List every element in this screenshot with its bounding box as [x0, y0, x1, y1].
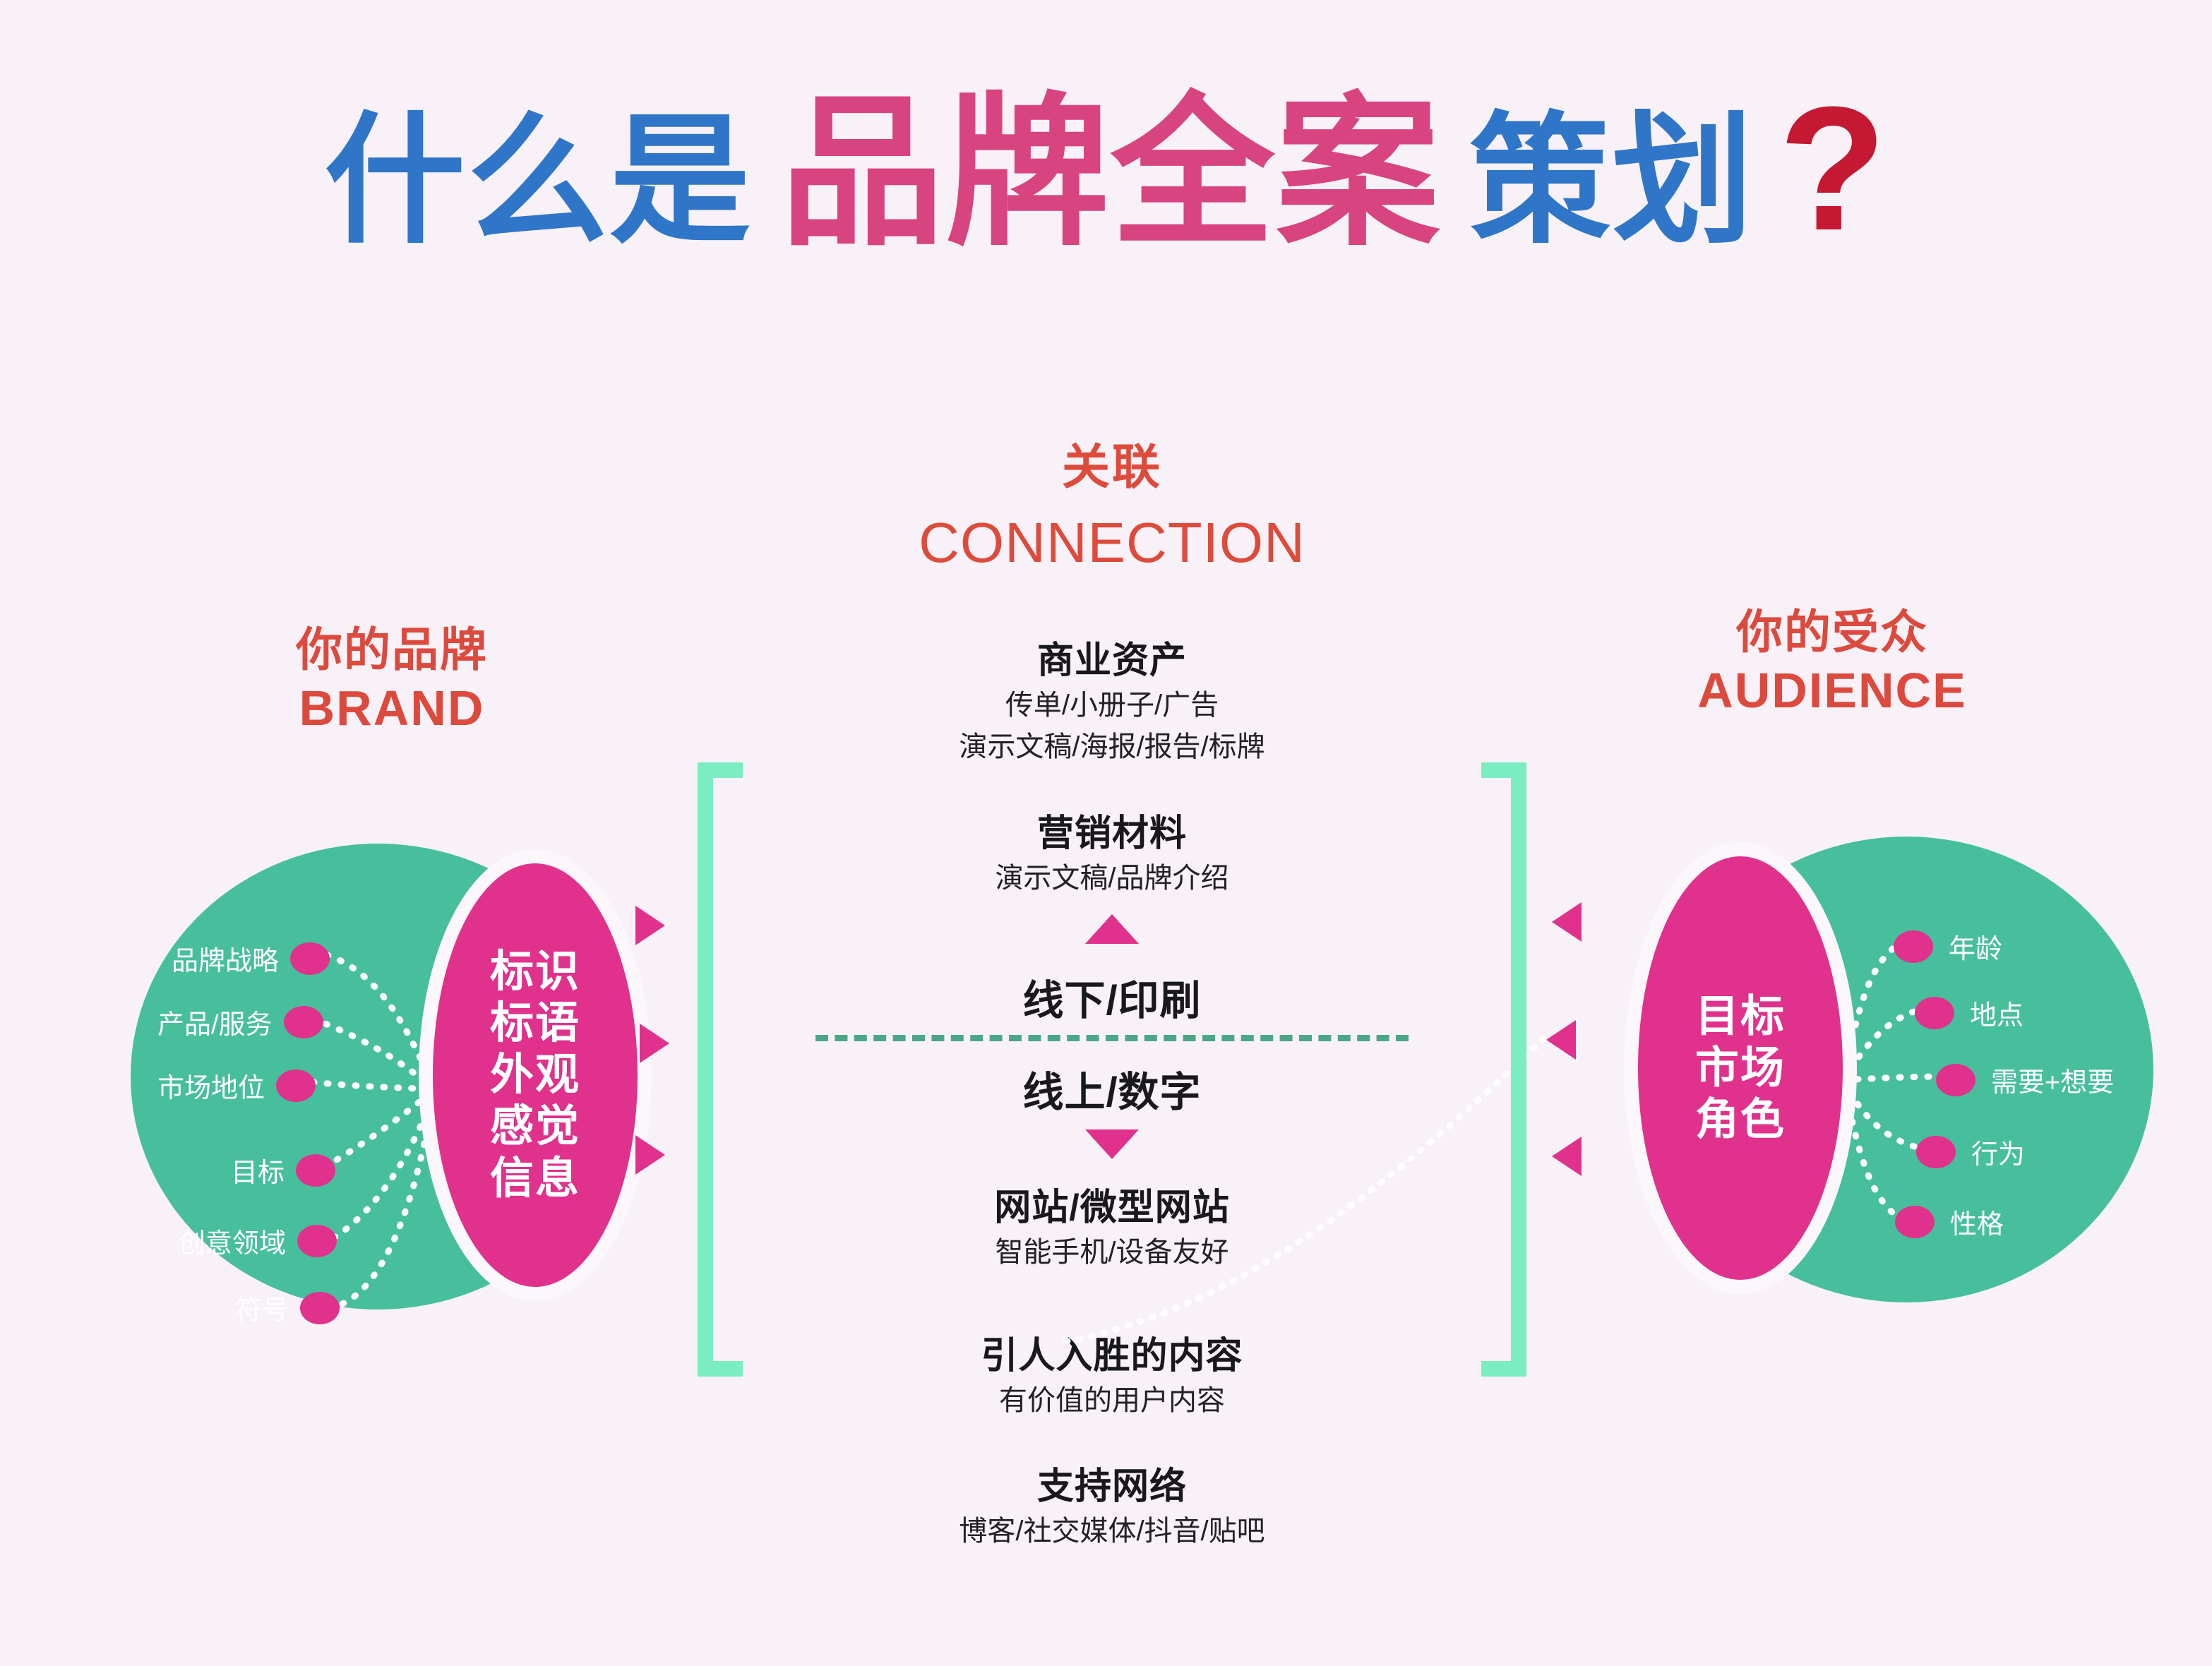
brand-core-ellipse: 标识 标语 外观 感觉 信息	[433, 863, 638, 1287]
arrow-right-icon-3	[635, 1135, 665, 1175]
brand-venn-group: 品牌战略 产品/服务 市场地位 目标 创意领域 符号 标识 标语	[131, 829, 667, 1324]
connection-block-3: 引人入胜的内容 有价值的用户内容	[791, 1334, 1433, 1420]
connection-block-0: 商业资产 传单/小册子/广告 演示文稿/海报/报告/标牌	[791, 639, 1433, 766]
audience-venn-group: 年龄 地点 需要+想要 行为 性格 目标 市场 角色	[1617, 822, 2153, 1317]
connection-block-sub1-4: 博客/社交媒体/抖音/贴吧	[791, 1513, 1433, 1550]
audience-core-ellipse: 目标 市场 角色	[1638, 856, 1843, 1280]
brand-node-dot-1	[284, 1006, 323, 1038]
connection-block-sub1-0: 传单/小册子/广告	[791, 687, 1433, 724]
arrow-left-icon-3	[1552, 1137, 1582, 1176]
brand-node-dot-4	[297, 1225, 337, 1257]
connection-block-title-2: 网站/微型网站	[791, 1186, 1433, 1230]
brand-node-label-3: 目标	[231, 1151, 285, 1189]
audience-node-3[interactable]: 行为	[1916, 1132, 2025, 1171]
audience-node-0[interactable]: 年龄	[1894, 927, 2002, 966]
audience-node-label-0: 年龄	[1949, 927, 2002, 966]
offline-label: 线下/印刷	[1022, 978, 1201, 1024]
brand-node-label-1: 产品/服务	[157, 1002, 273, 1041]
connection-heading: 关联 CONNECTION	[808, 438, 1416, 578]
offline-label-wrap: 线下/印刷	[791, 967, 1433, 1026]
audience-heading-cn: 你的受众	[1553, 604, 2111, 661]
audience-node-label-3: 行为	[1971, 1132, 2025, 1171]
connection-block-sub1-1: 演示文稿/品牌介绍	[791, 860, 1433, 897]
infographic-canvas: 什么是品牌全案策划? 你的品牌 BRAND 品牌战略 产品/服务	[0, 0, 2212, 1666]
audience-core-line-0: 目标	[1638, 990, 1843, 1042]
brand-node-4[interactable]: 创意领域	[179, 1221, 337, 1260]
brand-core-line-2: 外观	[433, 1049, 638, 1101]
connection-block-sub2-0: 演示文稿/海报/报告/标牌	[791, 729, 1433, 766]
brand-node-3[interactable]: 目标	[231, 1151, 335, 1189]
question-mark-icon: ?	[1778, 76, 1888, 262]
brand-core-line-4: 信息	[433, 1153, 638, 1204]
brand-heading: 你的品牌 BRAND	[124, 621, 660, 738]
audience-core-line-2: 角色	[1638, 1094, 1843, 1146]
connection-block-2: 网站/微型网站 智能手机/设备友好	[791, 1186, 1433, 1271]
brand-node-dot-3	[296, 1154, 335, 1187]
connection-heading-en: CONNECTION	[808, 508, 1416, 578]
brand-node-0[interactable]: 品牌战略	[172, 939, 330, 978]
connection-heading-cn: 关联	[808, 438, 1416, 498]
online-label: 线上/数字	[1022, 1069, 1201, 1115]
connection-block-title-0: 商业资产	[791, 639, 1433, 683]
connection-block-title-1: 营销材料	[791, 812, 1433, 856]
audience-node-label-4: 性格	[1950, 1202, 2004, 1241]
page-title: 什么是品牌全案策划?	[0, 76, 2212, 262]
brand-node-label-0: 品牌战略	[172, 939, 279, 978]
title-part-3: 策划	[1469, 107, 1754, 256]
audience-node-4[interactable]: 性格	[1895, 1202, 2004, 1241]
brand-node-label-2: 市场地位	[157, 1066, 265, 1105]
brand-heading-cn: 你的品牌	[124, 621, 660, 678]
title-part-1: 什么是	[324, 107, 752, 256]
brand-node-dot-0	[290, 942, 330, 975]
audience-node-dot-1	[1915, 997, 1954, 1029]
audience-core-line-1: 市场	[1638, 1042, 1843, 1093]
connection-block-sub1-3: 有价值的用户内容	[791, 1382, 1433, 1420]
audience-node-dot-3	[1916, 1136, 1956, 1168]
connection-block-sub1-2: 智能手机/设备友好	[791, 1234, 1433, 1271]
connection-block-title-4: 支持网络	[791, 1465, 1433, 1509]
audience-heading: 你的受众 AUDIENCE	[1553, 604, 2111, 721]
brand-core-label: 标识 标语 外观 感觉 信息	[433, 946, 638, 1204]
arrow-left-icon-2	[1546, 1020, 1576, 1060]
brand-node-dot-5	[300, 1292, 340, 1324]
audience-node-dot-4	[1895, 1206, 1935, 1238]
brand-core-line-3: 感觉	[433, 1101, 638, 1153]
connection-block-1: 营销材料 演示文稿/品牌介绍	[791, 812, 1433, 897]
audience-core-label: 目标 市场 角色	[1638, 990, 1843, 1145]
arrow-left-icon-1	[1552, 902, 1582, 942]
arrow-down-icon	[1085, 1129, 1139, 1159]
brand-node-2[interactable]: 市场地位	[157, 1066, 316, 1105]
connection-block-4: 支持网络 博客/社交媒体/抖音/贴吧	[791, 1465, 1433, 1550]
audience-node-2[interactable]: 需要+想要	[1936, 1060, 2114, 1099]
brand-core-line-1: 标语	[433, 997, 638, 1049]
connection-block-title-3: 引人入胜的内容	[791, 1334, 1433, 1378]
brand-heading-en: BRAND	[124, 678, 660, 738]
brand-node-label-5: 符号	[235, 1288, 289, 1327]
brand-node-label-4: 创意领域	[179, 1221, 286, 1260]
left-bracket	[698, 762, 743, 1377]
right-bracket	[1481, 762, 1526, 1377]
brand-node-5[interactable]: 符号	[235, 1288, 340, 1327]
audience-node-dot-2	[1936, 1064, 1975, 1096]
brand-node-dot-2	[276, 1069, 316, 1102]
online-label-wrap: 线上/数字	[791, 1059, 1433, 1118]
brand-node-1[interactable]: 产品/服务	[157, 1002, 323, 1041]
audience-node-1[interactable]: 地点	[1915, 993, 2023, 1032]
audience-node-label-2: 需要+想要	[1991, 1060, 2114, 1099]
audience-node-label-1: 地点	[1970, 993, 2023, 1032]
audience-node-dot-0	[1894, 930, 1933, 963]
audience-heading-en: AUDIENCE	[1553, 661, 2111, 721]
arrow-right-icon-1	[635, 906, 665, 945]
arrow-up-icon	[1085, 914, 1139, 944]
arrow-right-icon-2	[640, 1024, 669, 1063]
brand-core-line-0: 标识	[433, 946, 638, 997]
offline-online-divider	[815, 1035, 1409, 1041]
title-part-2: 品牌全案	[780, 88, 1441, 260]
